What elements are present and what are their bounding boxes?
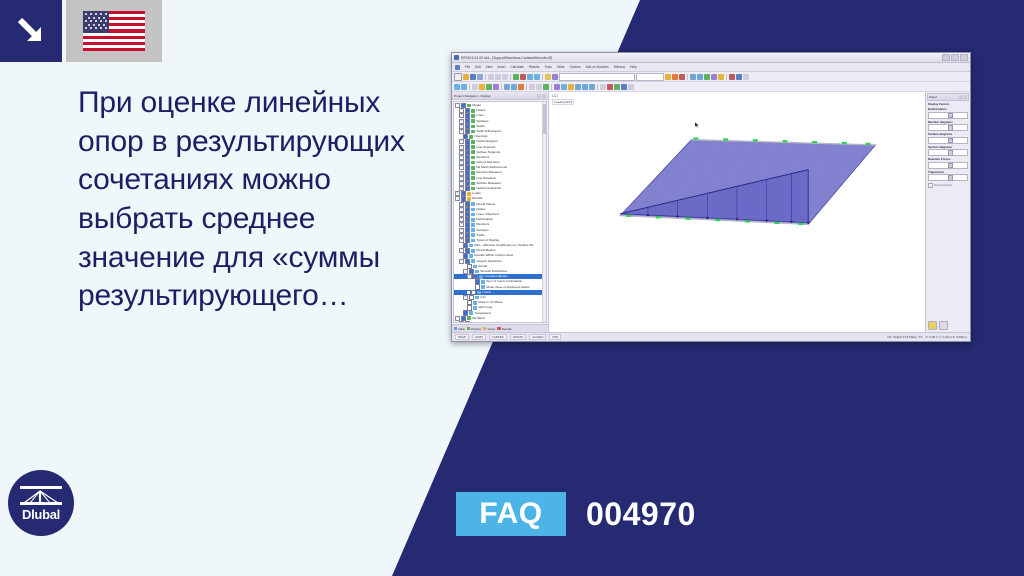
- tree-item-icon: [471, 140, 475, 144]
- menu-item-view[interactable]: View: [486, 65, 493, 69]
- surface-diagrams-slider[interactable]: [928, 137, 968, 144]
- data-tab-icon: [454, 327, 457, 330]
- tree-item-icon: [481, 280, 485, 284]
- arrow-down-right-badge: [0, 0, 62, 62]
- menu-item-options[interactable]: Options: [570, 65, 581, 69]
- navigator-tab-views-label: Views: [487, 327, 495, 331]
- tree-item-icon: [467, 316, 471, 320]
- tree-item-icon: [471, 161, 475, 165]
- front-view-icon[interactable]: [575, 84, 581, 90]
- cut-icon[interactable]: [488, 74, 494, 80]
- tree-item-icon: [471, 176, 475, 180]
- mouse-cursor-icon: [695, 122, 699, 128]
- loads-icon[interactable]: [718, 74, 724, 80]
- redo-icon[interactable]: [520, 74, 526, 80]
- status-coords: X: 0.00 m Y: 0.00 m Z: 0.000 m: [926, 335, 967, 339]
- panel-group-reaction-forces: Reaction Forces: [927, 157, 969, 169]
- load-case-combo[interactable]: [559, 73, 635, 81]
- navigator-header: Project Navigator - Display: [452, 92, 548, 100]
- panel-group-section-diagrams: Section diagrams: [927, 145, 969, 157]
- mirror-tool-icon[interactable]: [493, 84, 499, 90]
- tree-spacer: [459, 135, 462, 138]
- tree-item-icon: [471, 239, 475, 243]
- tree-item-icon: [471, 202, 475, 206]
- surfaces-icon[interactable]: [690, 74, 696, 80]
- expand-icon[interactable]: +: [459, 321, 464, 323]
- print-geometry-checkbox[interactable]: [928, 183, 933, 188]
- model-3d-view[interactable]: [549, 92, 925, 332]
- tree-item-icon: [467, 104, 471, 108]
- navigator-window-controls[interactable]: [537, 94, 546, 98]
- tree-item-icon: [471, 150, 475, 154]
- tree-spacer: [471, 280, 474, 283]
- tree-spacer: [459, 255, 462, 258]
- navigator-title: Project Navigator - Display: [454, 94, 491, 98]
- tree-item-icon: [475, 296, 479, 300]
- view-icon[interactable]: [552, 74, 558, 80]
- menu-item-file[interactable]: File: [465, 65, 470, 69]
- tree-item-icon: [471, 187, 475, 191]
- navigator-tabs[interactable]: Data Display Views Results: [452, 324, 548, 332]
- measure-icon[interactable]: [600, 84, 606, 90]
- tree-item-icon: [469, 311, 473, 315]
- collapse-icon[interactable]: -: [459, 259, 464, 264]
- tree-item-icon: [475, 270, 479, 274]
- tree-item-icon: [471, 233, 475, 237]
- panel-window-controls[interactable]: [959, 95, 967, 99]
- project-navigator[interactable]: Project Navigator - Display -Model+Nodes…: [452, 92, 549, 332]
- osnap-toggle-icon[interactable]: [543, 84, 549, 90]
- menu-app-icon: [455, 65, 460, 70]
- tree-item-icon: [467, 197, 471, 201]
- side-view-icon[interactable]: [589, 84, 595, 90]
- tree-item-icon: [471, 145, 475, 149]
- edit-icon[interactable]: [928, 321, 937, 330]
- tree-spacer: [459, 312, 462, 315]
- tree-item-icon: [471, 322, 475, 323]
- tree-item-icon: [467, 192, 471, 196]
- calculate-icon[interactable]: [665, 74, 671, 80]
- tree-item-icon: [469, 135, 473, 139]
- status-snap[interactable]: SNAP: [455, 334, 469, 340]
- members-icon[interactable]: [697, 74, 703, 80]
- us-flag-icon: [83, 11, 145, 51]
- model-viewport[interactable]: LC1 Loads [kN/m]: [549, 92, 925, 332]
- paste-icon[interactable]: [502, 74, 508, 80]
- window-controls[interactable]: [942, 54, 968, 61]
- tree-item-icon: [473, 301, 477, 305]
- table-icon[interactable]: [939, 321, 948, 330]
- slide-headline: При оценке линейных опор в результирующи…: [78, 84, 428, 316]
- app-menu-bar[interactable]: File Edit View Insert Calculate Results …: [452, 63, 970, 72]
- collapse-icon[interactable]: -: [467, 274, 472, 279]
- tree-item-icon: [471, 156, 475, 160]
- panel-label-reaction-forces: Reaction Forces: [928, 157, 968, 161]
- tree-item-label: Mean value of displayed values: [486, 285, 529, 290]
- tree-item-icon: [469, 254, 473, 258]
- arrow-down-right-icon: [14, 14, 48, 48]
- status-osnap[interactable]: OSNAP: [510, 334, 527, 340]
- panel-print-geometry-row[interactable]: Print Geometry: [927, 182, 969, 189]
- navigator-tab-results[interactable]: Results: [497, 327, 511, 331]
- tree-spacer: [459, 244, 462, 247]
- tree-item-icon: [471, 259, 475, 263]
- tree-item-icon: [471, 114, 475, 118]
- results-on-icon[interactable]: [672, 74, 678, 80]
- supports-icon[interactable]: [704, 74, 710, 80]
- tree-item-icon: [481, 285, 485, 289]
- render-icon[interactable]: [545, 74, 551, 80]
- tree-item-icon: [471, 125, 475, 129]
- views-tab-icon: [483, 327, 486, 330]
- menu-item-table[interactable]: Table: [557, 65, 565, 69]
- navigator-pin-button[interactable]: [537, 94, 541, 98]
- more-tools-icon[interactable]: [743, 74, 749, 80]
- navigator-tab-display[interactable]: Display: [467, 327, 481, 331]
- top-view-icon[interactable]: [582, 84, 588, 90]
- menu-item-edit[interactable]: Edit: [475, 65, 481, 69]
- results-tab-icon: [497, 327, 500, 330]
- scale-icon[interactable]: [518, 84, 524, 90]
- display-tab-icon: [467, 327, 470, 330]
- print-icon[interactable]: [477, 74, 483, 80]
- panel-group-deformations: Deformations: [927, 107, 969, 119]
- menu-item-help[interactable]: Help: [630, 65, 637, 69]
- rfem-app-icon: [454, 55, 459, 60]
- display-factors-panel[interactable]: Panel Display Factors Deformations Membe…: [925, 92, 970, 332]
- layers-icon[interactable]: [621, 84, 627, 90]
- tree-item-icon: [479, 275, 483, 279]
- delete-icon[interactable]: [729, 74, 735, 80]
- faq-number: 004970: [586, 492, 696, 536]
- tree-item-checkbox[interactable]: [465, 321, 470, 323]
- panel-title: Panel: [929, 95, 937, 99]
- maximize-button[interactable]: [951, 54, 959, 61]
- rotate-tool-icon[interactable]: [486, 84, 492, 90]
- select-tool-icon[interactable]: [472, 84, 478, 90]
- close-button[interactable]: [960, 54, 968, 61]
- toolbar-row-1[interactable]: [452, 72, 970, 82]
- tree-spacer: [463, 301, 466, 304]
- navigator-tab-display-label: Display: [471, 327, 481, 331]
- tree-item-icon: [471, 249, 475, 253]
- isometric-view-icon[interactable]: [568, 84, 574, 90]
- line-tool-icon[interactable]: [461, 84, 467, 90]
- deformations-slider[interactable]: [928, 112, 968, 119]
- panel-label-deformations: Deformations: [928, 107, 968, 111]
- open-file-icon[interactable]: [463, 74, 469, 80]
- grid-toggle-icon[interactable]: [529, 84, 535, 90]
- app-body: Project Navigator - Display -Model+Nodes…: [452, 92, 970, 332]
- clipping-icon[interactable]: [561, 84, 567, 90]
- member-diagrams-slider[interactable]: [928, 124, 968, 131]
- zoom-in-icon[interactable]: [527, 74, 533, 80]
- navigator-tab-views[interactable]: Views: [483, 327, 495, 331]
- status-plane: CS: Global XYZ Plane: XY: [887, 335, 922, 339]
- tree-spacer: [463, 265, 466, 268]
- navigator-scrollbar[interactable]: [542, 102, 546, 322]
- settings-icon[interactable]: [736, 74, 742, 80]
- app-title-bar[interactable]: RFEM 5.24.02 x64 - [SupportReactions-Con…: [452, 53, 970, 63]
- menu-item-insert[interactable]: Insert: [498, 65, 506, 69]
- panel-group-surface-diagrams: Surface diagrams: [927, 132, 969, 144]
- copy-icon[interactable]: [495, 74, 501, 80]
- undo-icon[interactable]: [513, 74, 519, 80]
- deformation-icon[interactable]: [679, 74, 685, 80]
- new-file-icon[interactable]: [454, 73, 462, 81]
- panel-label-trajectories: Trajectories: [928, 170, 968, 174]
- reaction-forces-slider[interactable]: [928, 162, 968, 169]
- tree-spacer: [463, 306, 466, 309]
- tree-item-icon: [471, 218, 475, 222]
- snap-toggle-icon[interactable]: [536, 84, 542, 90]
- tree-item-icon: [471, 213, 475, 217]
- panel-group-trajectories: Trajectories: [927, 170, 969, 182]
- tree-item[interactable]: +On Members: [454, 321, 546, 323]
- tree-item-icon: [471, 171, 475, 175]
- tree-item-icon: [471, 208, 475, 212]
- panel-label-surface-diagrams: Surface diagrams: [928, 132, 968, 136]
- panel-pin-button[interactable]: [959, 95, 963, 99]
- menu-item-add-on-modules[interactable]: Add-on Modules: [586, 65, 609, 69]
- dlubal-logo: Dlubal: [8, 470, 74, 536]
- tree-spacer: [467, 291, 470, 294]
- panel-label-member-diagrams: Member diagrams: [928, 120, 968, 124]
- panel-footer-buttons[interactable]: [927, 320, 969, 331]
- tree-spacer: [471, 286, 474, 289]
- tree-item-icon: [471, 130, 475, 134]
- section-diagrams-slider[interactable]: [928, 149, 968, 156]
- tree-item-icon: [471, 109, 475, 113]
- status-dxf[interactable]: DXF: [549, 334, 561, 340]
- rfem-application-window[interactable]: RFEM 5.24.02 x64 - [SupportReactions-Con…: [451, 52, 971, 342]
- result-combo[interactable]: [636, 73, 664, 81]
- navigator-tab-data-label: Data: [458, 327, 464, 331]
- menu-item-results[interactable]: Results: [529, 65, 540, 69]
- tree-item-icon: [471, 228, 475, 232]
- tree-item-icon: [473, 306, 477, 310]
- array-icon[interactable]: [511, 84, 517, 90]
- app-status-bar: SNAP GRID CARTES OSNAP GLINES DXF CS: Gl…: [452, 332, 970, 341]
- status-glines[interactable]: GLINES: [529, 334, 546, 340]
- overflow-icon[interactable]: [628, 84, 634, 90]
- minimize-button[interactable]: [942, 54, 950, 61]
- annotate-icon[interactable]: [607, 84, 613, 90]
- tree-item-icon: [471, 166, 475, 170]
- faq-label: FAQ: [479, 497, 542, 531]
- tree-item-icon: [471, 119, 475, 123]
- save-icon[interactable]: [470, 74, 476, 80]
- panel-group-member-diagrams: Member diagrams: [927, 120, 969, 132]
- mesh-icon[interactable]: [711, 74, 717, 80]
- node-tool-icon[interactable]: [454, 84, 460, 90]
- panel-section-title: Display Factors: [927, 102, 969, 106]
- navigator-tree[interactable]: -Model+Nodes+Lines+Surfaces+Solids+Solid…: [453, 101, 547, 323]
- navigator-tab-data[interactable]: Data: [454, 327, 465, 331]
- truss-frame-icon: [20, 486, 62, 507]
- zoom-out-icon[interactable]: [534, 74, 540, 80]
- trajectories-slider[interactable]: [928, 174, 968, 181]
- tree-item-icon: [471, 182, 475, 186]
- status-grid[interactable]: GRID: [472, 334, 486, 340]
- print-geometry-label: Print Geometry: [934, 184, 952, 187]
- faq-badge: FAQ: [456, 492, 566, 536]
- panel-label-section-diagrams: Section diagrams: [928, 145, 968, 149]
- extrude-icon[interactable]: [504, 84, 510, 90]
- menu-item-window[interactable]: Window: [614, 65, 625, 69]
- navigator-tab-results-label: Results: [502, 327, 512, 331]
- tree-item-icon: [469, 244, 473, 248]
- panel-header: Panel: [927, 93, 969, 101]
- menu-item-calculate[interactable]: Calculate: [510, 65, 523, 69]
- tree-item-label: On Members: [476, 321, 494, 323]
- section-icon[interactable]: [554, 84, 560, 90]
- toolbar-row-2[interactable]: [452, 82, 970, 92]
- tree-item-icon: [473, 265, 477, 269]
- panel-close-button[interactable]: [964, 95, 968, 99]
- menu-item-tools[interactable]: Tools: [544, 65, 551, 69]
- language-flag-badge: [66, 0, 162, 62]
- move-tool-icon[interactable]: [479, 84, 485, 90]
- navigator-close-button[interactable]: [542, 94, 546, 98]
- status-cartes[interactable]: CARTES: [489, 334, 507, 340]
- visibility-icon[interactable]: [614, 84, 620, 90]
- tree-item-icon: [477, 291, 481, 295]
- tree-item-icon: [471, 223, 475, 227]
- app-title-text: RFEM 5.24.02 x64 - [SupportReactions-Con…: [461, 56, 552, 60]
- dlubal-logo-text: Dlubal: [22, 508, 60, 521]
